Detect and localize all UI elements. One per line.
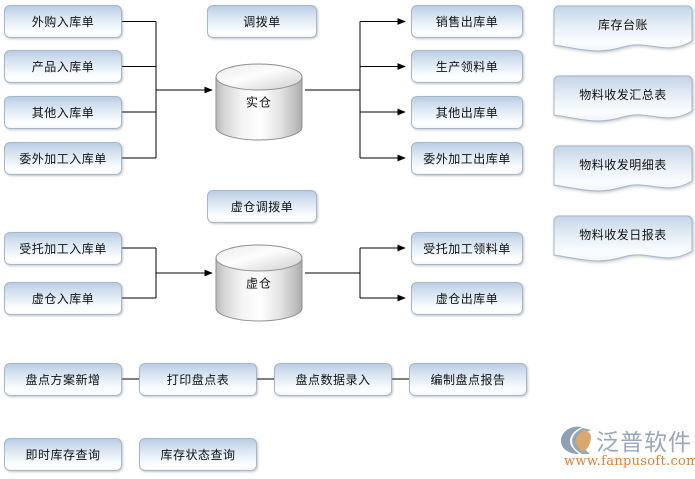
- report-stock-ledger[interactable]: 库存台账: [553, 5, 693, 57]
- node-label: 外购入库单: [32, 16, 95, 28]
- node-label: 虚仓出库单: [436, 293, 499, 305]
- node-outbound-sales[interactable]: 销售出库单: [411, 5, 523, 38]
- node-label: 其他入库单: [32, 107, 95, 119]
- node-stocktaking-report[interactable]: 编制盘点报告: [409, 363, 527, 396]
- node-stocktaking-data-entry[interactable]: 盘点数据录入: [274, 363, 392, 396]
- node-label: 盘点数据录入: [295, 374, 370, 386]
- node-virtual-outbound-entrusted-pick[interactable]: 受托加工领料单: [411, 232, 523, 265]
- node-outbound-outsourced[interactable]: 委外加工出库单: [411, 142, 523, 175]
- node-outbound-production-pick[interactable]: 生产领料单: [411, 50, 523, 83]
- node-label: 虚仓调拨单: [231, 201, 294, 213]
- node-label: 销售出库单: [436, 16, 499, 28]
- node-transfer-order[interactable]: 调拨单: [207, 5, 317, 38]
- node-virtual-outbound[interactable]: 虚仓出库单: [411, 282, 523, 315]
- report-material-detail[interactable]: 物料收发明细表: [553, 145, 693, 197]
- node-query-stock-status[interactable]: 库存状态查询: [139, 438, 257, 471]
- node-label: 即时库存查询: [25, 449, 100, 461]
- node-virtual-inbound[interactable]: 虚仓入库单: [4, 282, 122, 315]
- node-label: 其他出库单: [436, 107, 499, 119]
- fanpu-logo-icon: [560, 425, 594, 455]
- node-label: 打印盘点表: [167, 374, 230, 386]
- node-label: 受托加工入库单: [19, 243, 107, 255]
- node-label: 盘点方案新增: [25, 374, 100, 386]
- node-inbound-other[interactable]: 其他入库单: [4, 96, 122, 129]
- node-label: 产品入库单: [32, 61, 95, 73]
- node-stocktaking-plan-new[interactable]: 盘点方案新增: [4, 363, 122, 396]
- brand-url: www.fanpusoft.com: [564, 454, 695, 469]
- node-label: 委外加工出库单: [423, 153, 511, 165]
- node-label: 库存状态查询: [160, 449, 235, 461]
- node-inbound-purchase[interactable]: 外购入库单: [4, 5, 122, 38]
- report-material-daily[interactable]: 物料收发日报表: [553, 215, 693, 267]
- node-label: 委外加工入库单: [19, 153, 107, 165]
- node-stocktaking-print[interactable]: 打印盘点表: [139, 363, 257, 396]
- flowchart-canvas: 外购入库单 产品入库单 其他入库单 委外加工入库单 调拨单: [0, 0, 695, 479]
- node-virtual-transfer-order[interactable]: 虚仓调拨单: [207, 190, 317, 223]
- node-outbound-other[interactable]: 其他出库单: [411, 96, 523, 129]
- node-label: 调拨单: [243, 16, 281, 28]
- node-label: 生产领料单: [436, 61, 499, 73]
- node-query-realtime-stock[interactable]: 即时库存查询: [4, 438, 122, 471]
- node-label: 编制盘点报告: [430, 374, 505, 386]
- node-label: 虚仓入库单: [32, 293, 95, 305]
- report-material-summary[interactable]: 物料收发汇总表: [553, 75, 693, 127]
- node-inbound-outsourced[interactable]: 委外加工入库单: [4, 142, 122, 175]
- cylinder-virtual-warehouse[interactable]: 虚仓: [214, 243, 304, 323]
- watermark-logo: 泛普软件 www.fanpusoft.com: [558, 421, 692, 475]
- node-inbound-product[interactable]: 产品入库单: [4, 50, 122, 83]
- node-label: 受托加工领料单: [423, 243, 511, 255]
- brand-name: 泛普软件: [596, 423, 692, 457]
- node-virtual-inbound-entrusted[interactable]: 受托加工入库单: [4, 232, 122, 265]
- cylinder-real-warehouse[interactable]: 实仓: [214, 62, 304, 142]
